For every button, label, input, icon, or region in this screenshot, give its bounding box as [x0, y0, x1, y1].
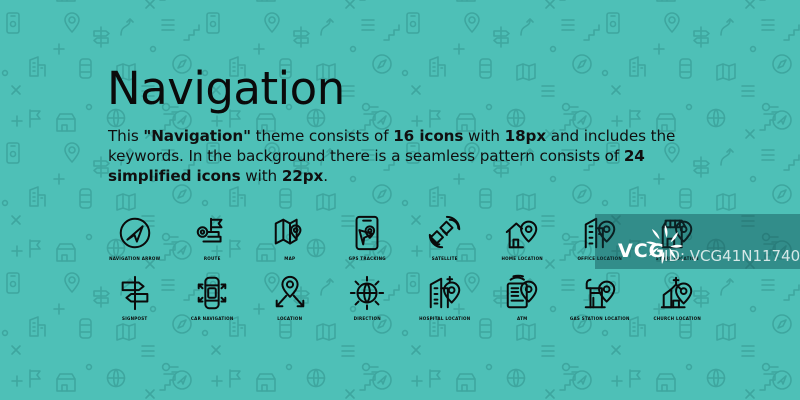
description-segment-1: "Navigation"	[143, 127, 251, 145]
page-title: Navigation	[107, 66, 345, 111]
description-segment-2: theme consists of	[251, 127, 393, 145]
location-pin-arrows-icon	[268, 273, 312, 313]
icon-cell-atm-location-pin[interactable]: ATM	[484, 273, 562, 333]
icon-label: CAR NAVIGATION	[191, 316, 234, 322]
gas-station-location-pin-icon	[578, 273, 622, 313]
background-seamless-pattern	[0, 0, 800, 400]
icon-label: SATELLITE	[432, 256, 458, 262]
poster-canvas: Navigation This "Navigation" theme consi…	[0, 0, 800, 400]
icon-cell-location-pin-arrows[interactable]: LOCATION	[251, 273, 329, 333]
icon-cell-gas-station-location-pin[interactable]: GAS STATION LOCATION	[561, 273, 639, 333]
icon-label: CHURCH LOCATION	[653, 316, 701, 322]
hospital-location-pin-icon	[423, 273, 467, 313]
icon-cell-church-location-pin[interactable]: CHURCH LOCATION	[639, 273, 717, 333]
home-location-pin-icon	[500, 213, 544, 253]
icon-cell-office-location-pin[interactable]: OFFICE LOCATION	[561, 213, 639, 273]
icon-label: NAVIGATION ARROW	[109, 256, 160, 262]
icon-cell-car-navigation[interactable]: CAR NAVIGATION	[174, 273, 252, 333]
icon-label: ROUTE	[204, 256, 221, 262]
icon-label: MAP	[284, 256, 295, 262]
atm-location-pin-icon	[500, 273, 544, 313]
icon-label: SIGNPOST	[122, 316, 147, 322]
icon-cell-satellite[interactable]: SATELLITE	[406, 213, 484, 273]
store-location-pin-icon	[655, 213, 699, 253]
icon-grid: NAVIGATION ARROWROUTEMAPGPS TRACKINGSATE…	[96, 213, 716, 333]
icon-label: ATM	[517, 316, 527, 322]
icon-label: STORE LOCATION	[656, 256, 699, 262]
description-segment-9: 22px	[282, 167, 323, 185]
description-paragraph: This "Navigation" theme consists of 16 i…	[108, 126, 684, 186]
route-flag-icon	[190, 213, 234, 253]
icon-cell-store-location-pin[interactable]: STORE LOCATION	[639, 213, 717, 273]
icon-cell-route-flag[interactable]: ROUTE	[174, 213, 252, 273]
description-segment-3: 16 icons	[393, 127, 463, 145]
icon-label: OFFICE LOCATION	[577, 256, 622, 262]
satellite-icon	[423, 213, 467, 253]
car-navigation-icon	[190, 273, 234, 313]
icon-cell-home-location-pin[interactable]: HOME LOCATION	[484, 213, 562, 273]
icon-cell-phone-gps-tracking[interactable]: GPS TRACKING	[329, 213, 407, 273]
icon-label: DIRECTION	[354, 316, 381, 322]
description-segment-10: .	[323, 167, 328, 185]
description-segment-5: 18px	[505, 127, 546, 145]
folded-map-pin-icon	[268, 213, 312, 253]
globe-direction-icon	[345, 273, 389, 313]
icon-label: GPS TRACKING	[349, 256, 386, 262]
icon-label: HOSPITAL LOCATION	[419, 316, 470, 322]
icon-cell-globe-direction[interactable]: DIRECTION	[329, 273, 407, 333]
icon-label: HOME LOCATION	[502, 256, 543, 262]
icon-label: GAS STATION LOCATION	[570, 316, 630, 322]
icon-cell-hospital-location-pin[interactable]: HOSPITAL LOCATION	[406, 273, 484, 333]
description-segment-0: This	[108, 127, 143, 145]
description-segment-4: with	[463, 127, 504, 145]
church-location-pin-icon	[655, 273, 699, 313]
icon-cell-folded-map-pin[interactable]: MAP	[251, 213, 329, 273]
signpost-icon	[113, 273, 157, 313]
navigation-arrow-icon	[113, 213, 157, 253]
icon-cell-navigation-arrow[interactable]: NAVIGATION ARROW	[96, 213, 174, 273]
office-location-pin-icon	[578, 213, 622, 253]
icon-label: LOCATION	[277, 316, 302, 322]
phone-gps-tracking-icon	[345, 213, 389, 253]
icon-cell-signpost[interactable]: SIGNPOST	[96, 273, 174, 333]
description-segment-8: with	[241, 167, 282, 185]
